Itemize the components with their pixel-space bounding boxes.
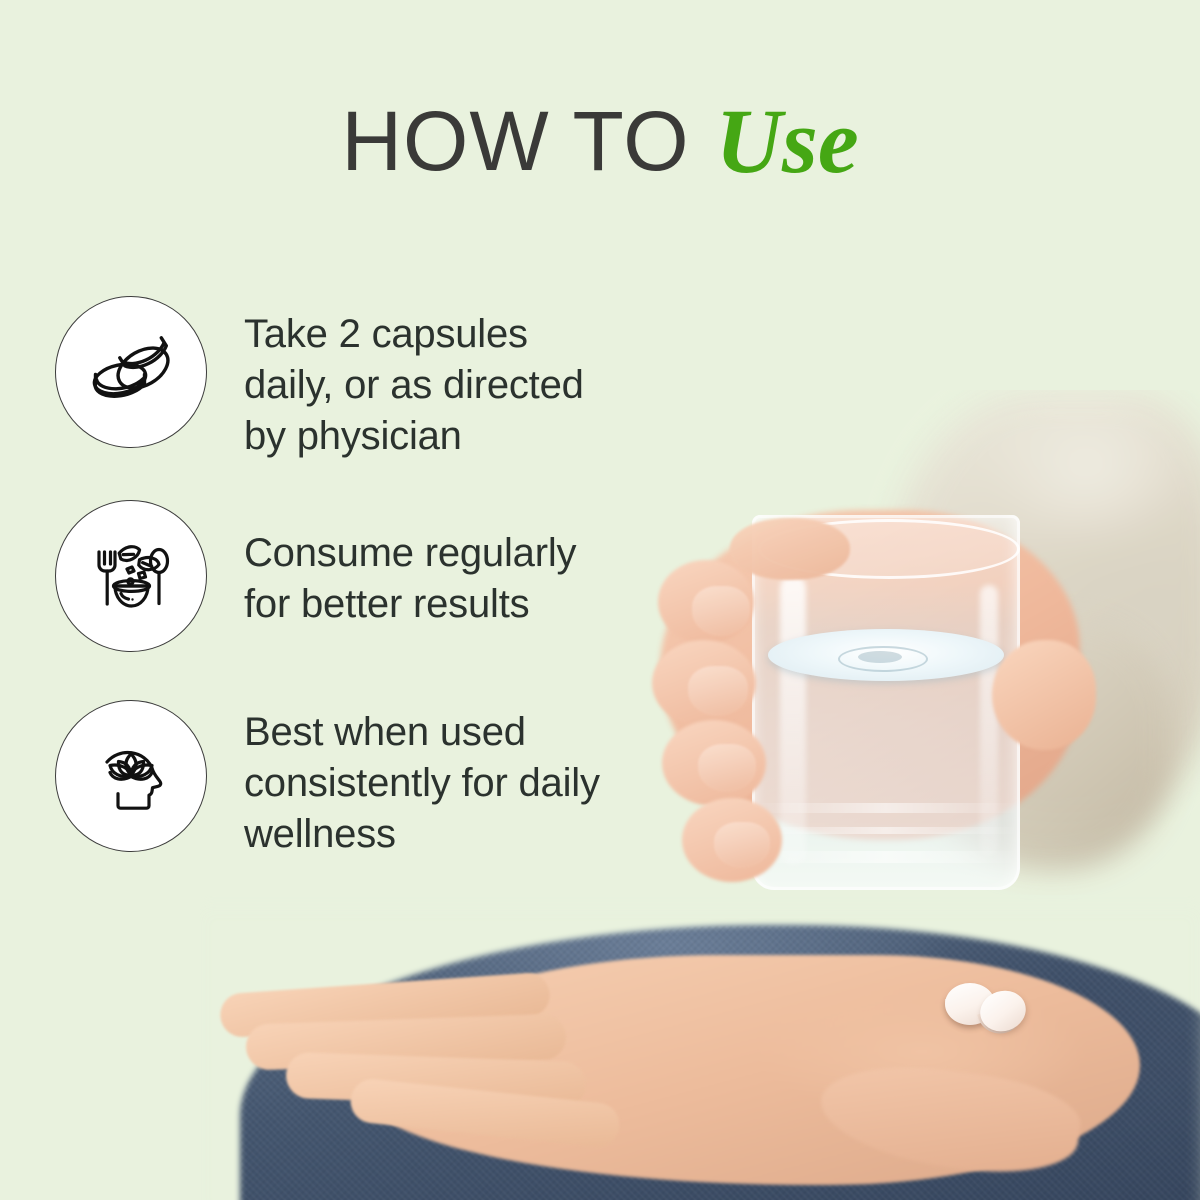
two-tablets-icon [55,296,207,448]
feature-item-dosage: Take 2 capsules daily, or as directed by… [55,296,584,462]
salad-bowl-icon [55,500,207,652]
feature-item-regularity: Consume regularly for better results [55,500,576,652]
feature-list: Take 2 capsules daily, or as directed by… [0,0,1200,1200]
head-lotus-icon [55,700,207,852]
feature-text: Consume regularly for better results [244,500,576,630]
feature-item-wellness: Best when used consistently for daily we… [55,700,600,860]
feature-text: Best when used consistently for daily we… [244,700,600,860]
feature-text: Take 2 capsules daily, or as directed by… [244,296,584,462]
infographic-canvas: HOW TOUse [0,0,1200,1200]
